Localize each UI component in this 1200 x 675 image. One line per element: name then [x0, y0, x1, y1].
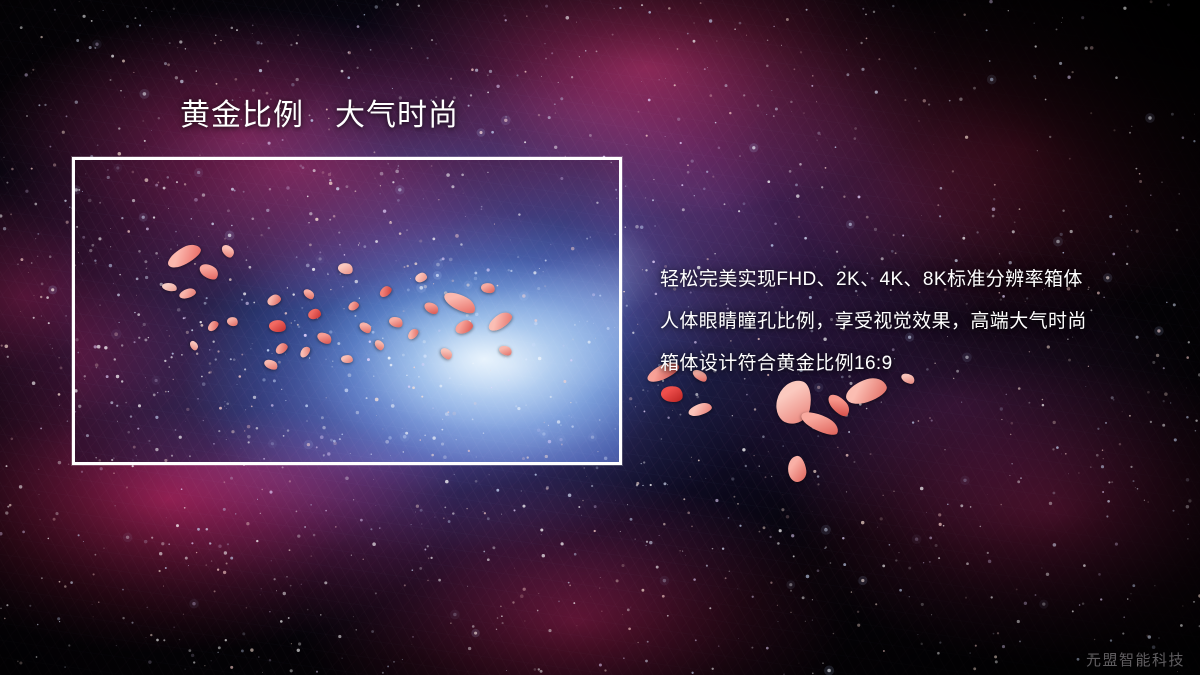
- nebula-preview-frame: [72, 157, 622, 465]
- flower-petal: [799, 407, 842, 439]
- panel-nebula-core: [72, 157, 622, 465]
- body-line-1: 轻松完美实现FHD、2K、4K、8K标准分辨率箱体: [660, 259, 1180, 301]
- flower-petal: [786, 455, 807, 483]
- presentation-slide: 黄金比例 大气时尚 轻松完美实现FHD、2K、4K、8K标准分辨率箱体 人体眼睛…: [0, 0, 1200, 675]
- slide-title: 黄金比例 大气时尚: [180, 101, 459, 131]
- body-line-2: 人体眼睛瞳孔比例，享受视觉效果，高端大气时尚: [660, 301, 1180, 343]
- slide-body-text: 轻松完美实现FHD、2K、4K、8K标准分辨率箱体 人体眼睛瞳孔比例，享受视觉效…: [660, 259, 1180, 385]
- flower-petal: [687, 401, 713, 418]
- flower-petal: [825, 391, 853, 420]
- panel-nebula-wisp: [72, 157, 622, 465]
- panel-nebula-red: [72, 157, 622, 465]
- flower-petal: [660, 384, 684, 404]
- panel-nebula-image: [72, 157, 622, 465]
- company-watermark: 元盟智能科技: [1086, 653, 1185, 668]
- panel-nebula-magenta: [72, 157, 622, 465]
- body-line-3: 箱体设计符合黄金比例16:9: [660, 343, 1180, 385]
- panel-nebula-base: [72, 157, 622, 465]
